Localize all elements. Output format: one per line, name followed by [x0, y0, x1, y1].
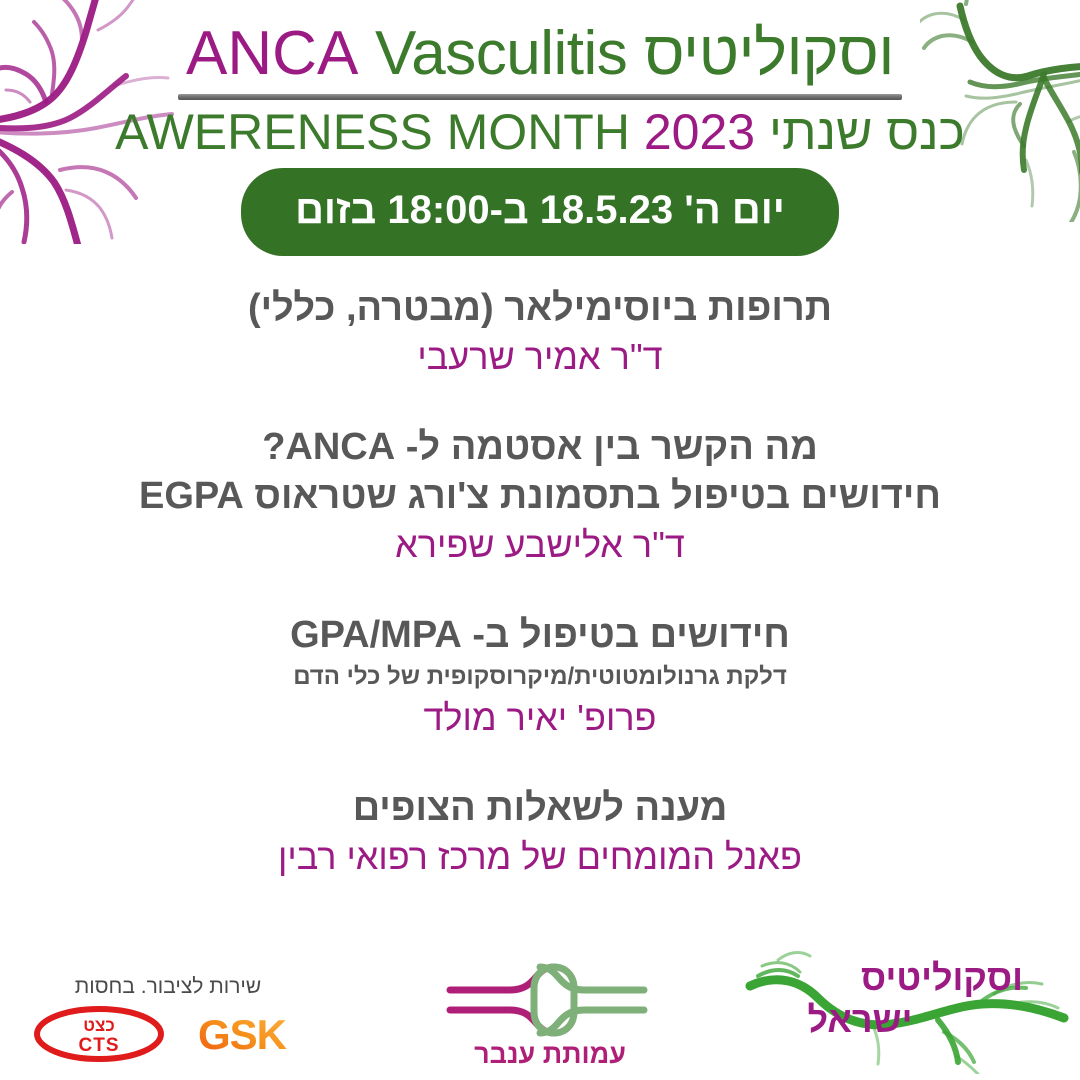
session-speaker: ד"ר אמיר שרעבי [0, 333, 1080, 381]
gsk-logo-icon: GSK [181, 1009, 303, 1059]
cts-hebrew-text: כצט [83, 1016, 114, 1035]
title-line-2: כנס שנתי 2023 AWERENESS MONTH [0, 102, 1080, 162]
vasculitis-israel-wordmark-line2: ישראל [807, 999, 912, 1040]
program-section: מה הקשר בין אסטמה ל- ANCA? חידושים בטיפו… [0, 423, 1080, 569]
poster-header: וסקוליטיס ANCA Vasculitis כנס שנתי 2023 … [0, 18, 1080, 162]
gsk-wordmark: GSK [198, 1011, 287, 1058]
sponsor-logos: כצט CTS GSK [18, 1006, 318, 1062]
date-time-badge: יום ה' 18.5.23 ב-18:00 בזום [241, 168, 839, 256]
cts-logo-icon: כצט CTS [33, 1006, 165, 1062]
title-vasculitis: Vasculitis [375, 19, 627, 88]
session-title: מענה לשאלות הצופים [0, 784, 1080, 833]
poster-footer: שירות לציבור. בחסות כצט CTS [0, 940, 1080, 1080]
session-subtitle: דלקת גרנולומטוטית/מיקרוסקופית של כלי הדם [0, 660, 1080, 694]
title-hebrew-vasculitis: וסקוליטיס [644, 19, 894, 88]
title-anca: ANCA [186, 19, 358, 88]
title-year: 2023 [644, 104, 755, 160]
cts-latin-text: CTS [79, 1035, 120, 1056]
vasculitis-israel-wordmark-line1: וסקוליטיס [861, 957, 1023, 998]
sponsor-caption: שירות לציבור. בחסות [18, 974, 318, 1000]
inbar-association-logo-icon: עמותת ענבר [432, 954, 662, 1070]
session-speaker: פאנל המומחים של מרכז רפואי רבין [0, 833, 1080, 881]
program-section: חידושים בטיפול ב- GPA/MPA דלקת גרנולומטו… [0, 611, 1080, 742]
program-section: מענה לשאלות הצופים פאנל המומחים של מרכז … [0, 784, 1080, 881]
poster-canvas: וסקוליטיס ANCA Vasculitis כנס שנתי 2023 … [0, 0, 1080, 1080]
session-speaker: פרופ' יאיר מולד [0, 694, 1080, 742]
title-line-1: וסקוליטיס ANCA Vasculitis [0, 18, 1080, 90]
title-divider [178, 94, 902, 100]
session-title: תרופות ביוסימילאר (מבטרה, כללי) [0, 284, 1080, 333]
sponsors-block: שירות לציבור. בחסות כצט CTS [18, 974, 318, 1062]
session-title: מה הקשר בין אסטמה ל- ANCA? [0, 423, 1080, 472]
inbar-wordmark: עמותת ענבר [474, 1039, 626, 1069]
session-title: חידושים בטיפול ב- GPA/MPA [0, 611, 1080, 660]
date-badge-wrap: יום ה' 18.5.23 ב-18:00 בזום [0, 168, 1080, 256]
vasculitis-israel-logo-icon: וסקוליטיס ישראל [742, 946, 1072, 1074]
program-section: תרופות ביוסימילאר (מבטרה, כללי) ד"ר אמיר… [0, 284, 1080, 381]
session-speaker: ד"ר אלישבע שפירא [0, 521, 1080, 569]
title-awareness-month: AWERENESS MONTH [115, 104, 630, 160]
title-hebrew-annual-conference: כנס שנתי [769, 104, 965, 160]
session-title-second-line: חידושים בטיפול בתסמונת צ'ורג שטראוס EGPA [0, 472, 1080, 521]
program-list: תרופות ביוסימילאר (מבטרה, כללי) ד"ר אמיר… [0, 284, 1080, 881]
